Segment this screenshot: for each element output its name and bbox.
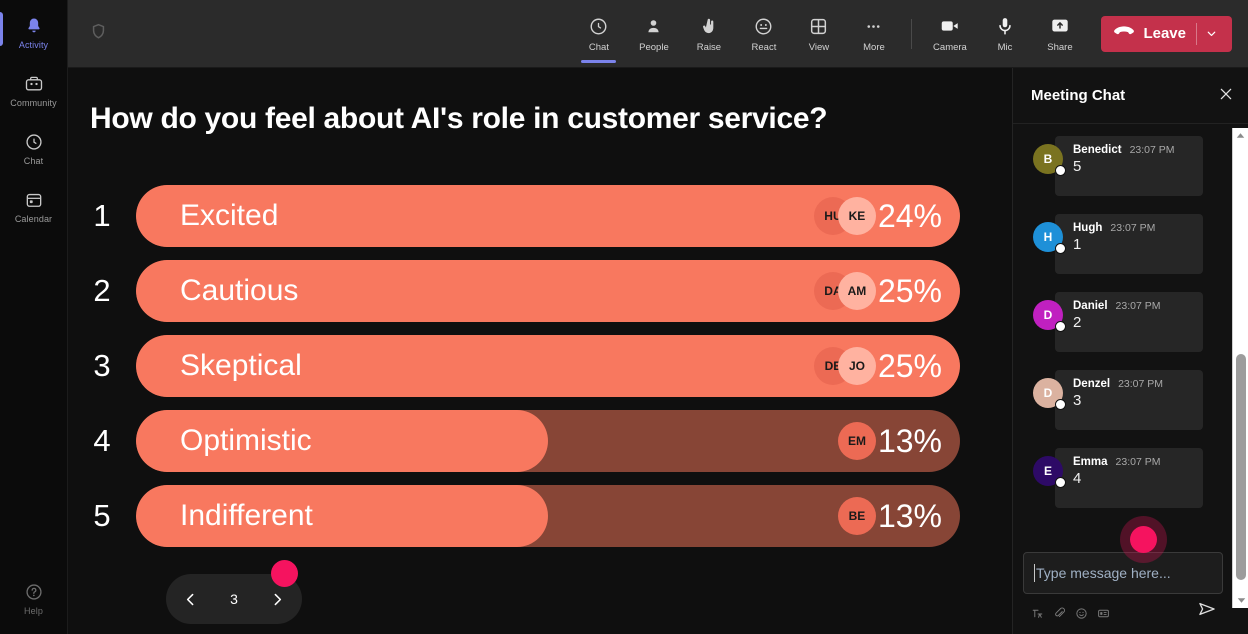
click-indicator-next-page [271,560,298,587]
leave-button[interactable]: Leave [1101,16,1232,52]
toolbar-button-people[interactable]: People [626,3,681,65]
sidebar-item-help[interactable]: Help [0,572,68,624]
help-circle-icon [23,581,45,603]
chat-message-list[interactable]: B Benedict 23:07 PM 5 H Hugh 23:07 PM [1013,124,1233,541]
meeting-security-shield[interactable] [68,22,128,46]
attach-paperclip-icon[interactable] [1053,607,1066,620]
avatar: KE [838,197,876,235]
poll-option-label: Skeptical [180,335,302,397]
hangup-icon [1113,23,1135,44]
poll-option-track: Skeptical DE JO 25% [136,335,960,397]
share-screen-icon [1049,14,1071,38]
chat-message-body: Denzel 23:07 PM 3 [1055,370,1203,430]
sidebar-item-label: Chat [24,156,43,166]
community-icon [23,73,45,95]
chat-message-text: 1 [1073,236,1193,253]
poll-option-right: DE JO 25% [814,335,942,397]
sidebar-item-community[interactable]: Community [0,64,68,116]
poll-option-percent: 13% [878,423,942,460]
chat-message-author: Hugh [1073,222,1102,234]
poll-option-label: Optimistic [180,410,312,472]
toolbar-button-share[interactable]: Share [1032,3,1087,65]
poll-option-percent: 24% [878,198,942,235]
poll-option-row[interactable]: 2 Cautious DA AM 25% [68,260,1012,322]
toolbar-button-label: People [639,42,669,53]
toolbar-device-actions: Camera Mic Share [922,0,1087,68]
poll-option-rank: 4 [68,423,136,459]
poll-option-rank: 3 [68,348,136,384]
chat-message-text: 5 [1073,158,1193,175]
poll-option-row[interactable]: 3 Skeptical DE JO 25% [68,335,1012,397]
chat-message-text: 2 [1073,314,1193,331]
poll-option-label: Indifferent [180,485,313,547]
chat-message-time: 23:07 PM [1130,144,1175,156]
poll-option-right: DA AM 25% [814,260,942,322]
chat-message-author: Benedict [1073,144,1122,156]
chat-message[interactable]: H Hugh 23:07 PM 1 [1013,210,1233,288]
sidebar-item-label: Help [24,606,43,616]
poll-option-percent: 25% [878,348,942,385]
text-cursor [1034,564,1035,582]
chat-message-meta: Benedict 23:07 PM [1073,144,1193,156]
poll-option-avatars: HU KE [814,197,876,235]
avatar: JO [838,347,876,385]
toolbar-button-camera[interactable]: Camera [922,3,977,65]
teams-meeting-window: Activity Community Chat Calendar H [0,0,1248,634]
chat-message-meta: Denzel 23:07 PM [1073,378,1193,390]
chat-input-placeholder: Type message here... [1036,565,1171,581]
toolbar-button-label: Camera [933,42,967,53]
chat-message-time: 23:07 PM [1116,300,1161,312]
meeting-chat-panel: Meeting Chat B Benedict 23:07 PM 5 H [1012,68,1248,634]
shield-icon [89,22,108,46]
avatar: AM [838,272,876,310]
poll-option-track: Cautious DA AM 25% [136,260,960,322]
toolbar-divider [911,19,912,49]
activity-bell-icon [23,15,45,37]
chat-message-author: Daniel [1073,300,1108,312]
calendar-icon [23,189,45,211]
poll-option-right: BE 13% [838,485,942,547]
poll-option-track: Indifferent BE 13% [136,485,960,547]
chat-compose-area: Type message here... [1013,542,1233,634]
raise-hand-icon [698,14,719,38]
toolbar-button-label: Raise [697,42,721,53]
chat-bubble-icon [588,14,609,38]
chat-panel-title: Meeting Chat [1031,87,1125,104]
chat-message-text: 3 [1073,392,1193,409]
poll-option-row[interactable]: 1 Excited HU KE 24% [68,185,1012,247]
chat-message-time: 23:07 PM [1118,378,1163,390]
poll-option-percent: 25% [878,273,942,310]
poll-option-label: Cautious [180,260,298,322]
poll-option-rank: 5 [68,498,136,534]
toolbar-button-label: Mic [998,42,1013,53]
sidebar-item-label: Calendar [15,214,52,224]
toolbar-button-label: Chat [589,42,609,53]
click-indicator-chat-input [1130,526,1157,553]
scroll-up-icon[interactable] [1233,128,1248,143]
toolbar-button-react[interactable]: React [736,3,791,65]
poll-option-right: EM 13% [838,410,942,472]
scrollbar-thumb[interactable] [1236,354,1246,580]
poll-option-avatars: EM [838,422,876,460]
chat-message-meta: Daniel 23:07 PM [1073,300,1193,312]
poll-option-label: Excited [180,185,278,247]
poll-option-rank: 1 [68,198,136,234]
more-dots-icon [863,14,884,38]
format-text-icon[interactable] [1031,607,1044,620]
chat-message-author: Denzel [1073,378,1110,390]
toolbar-button-label: View [809,42,829,53]
poll-option-row[interactable]: 5 Indifferent BE 13% [68,485,1012,547]
chat-message-meta: Hugh 23:07 PM [1073,222,1193,234]
chat-panel-header: Meeting Chat [1013,68,1248,124]
avatar: BE [838,497,876,535]
poll-question: How do you feel about AI's role in custo… [90,102,970,136]
sidebar-item-calendar[interactable]: Calendar [0,180,68,232]
chat-message-body: Hugh 23:07 PM 1 [1055,214,1203,274]
camera-icon [939,14,961,38]
leave-button-label: Leave [1143,25,1186,42]
mic-icon [994,14,1016,38]
chat-message[interactable]: D Denzel 23:07 PM 3 [1013,366,1233,444]
poll-page-number: 3 [230,591,238,607]
chat-message-body: Benedict 23:07 PM 5 [1055,136,1203,196]
app-left-rail: Activity Community Chat Calendar H [0,0,68,634]
toolbar-button-view[interactable]: View [791,3,846,65]
emoji-icon[interactable] [1075,607,1088,620]
chat-message-time: 23:07 PM [1110,222,1155,234]
sidebar-item-activity[interactable]: Activity [0,6,68,58]
sidebar-item-chat[interactable]: Chat [0,122,68,174]
chevron-left-icon[interactable] [182,591,199,608]
send-icon[interactable] [1197,599,1217,624]
chat-bubble-icon [23,131,45,153]
presence-dot [1055,165,1066,176]
poll-option-avatars: DE JO [814,347,876,385]
sidebar-item-label: Activity [19,40,48,50]
chat-message-time: 23:07 PM [1116,456,1161,468]
presence-dot [1055,477,1066,488]
view-grid-icon [808,14,829,38]
chat-message-body: Daniel 23:07 PM 2 [1055,292,1203,352]
toolbar-button-raise[interactable]: Raise [681,3,736,65]
compose-icon-row [1031,607,1110,620]
poll-stage: How do you feel about AI's role in custo… [68,68,1012,634]
presence-dot [1055,243,1066,254]
poll-option-percent: 13% [878,498,942,535]
sidebar-item-label: Community [10,98,56,108]
poll-option-track: Optimistic EM 13% [136,410,960,472]
poll-option-rank: 2 [68,273,136,309]
meeting-toolbar: Chat People Raise React [68,0,1248,68]
giphy-icon[interactable] [1097,607,1110,620]
toolbar-button-label: Share [1047,42,1072,53]
chat-message[interactable]: D Daniel 23:07 PM 2 [1013,288,1233,366]
people-icon [643,14,664,38]
poll-option-avatars: BE [838,497,876,535]
close-icon[interactable] [1218,86,1234,105]
chat-message[interactable]: B Benedict 23:07 PM 5 [1013,132,1233,210]
chevron-down-icon[interactable] [1197,27,1226,40]
poll-option-right: HU KE 24% [814,185,942,247]
toolbar-button-more[interactable]: More [846,3,901,65]
chat-message-input[interactable]: Type message here... [1023,552,1223,594]
react-emoji-icon [753,14,774,38]
toolbar-button-label: React [752,42,777,53]
avatar: EM [838,422,876,460]
chat-message-body: Emma 23:07 PM 4 [1055,448,1203,508]
poll-option-row[interactable]: 4 Optimistic EM 13% [68,410,1012,472]
poll-option-avatars: DA AM [814,272,876,310]
scroll-down-icon[interactable] [1233,593,1248,608]
poll-option-track: Excited HU KE 24% [136,185,960,247]
toolbar-button-mic[interactable]: Mic [977,3,1032,65]
presence-dot [1055,399,1066,410]
toolbar-button-chat[interactable]: Chat [571,3,626,65]
poll-options-list: 1 Excited HU KE 24% 2 [68,185,1012,560]
toolbar-main-actions: Chat People Raise React [571,0,901,68]
chevron-right-icon[interactable] [269,591,286,608]
chat-message-text: 4 [1073,470,1193,487]
chat-scrollbar[interactable] [1232,128,1248,608]
chat-message[interactable]: E Emma 23:07 PM 4 [1013,444,1233,522]
toolbar-button-label: More [863,42,885,53]
chat-message-meta: Emma 23:07 PM [1073,456,1193,468]
chat-message-author: Emma [1073,456,1108,468]
presence-dot [1055,321,1066,332]
